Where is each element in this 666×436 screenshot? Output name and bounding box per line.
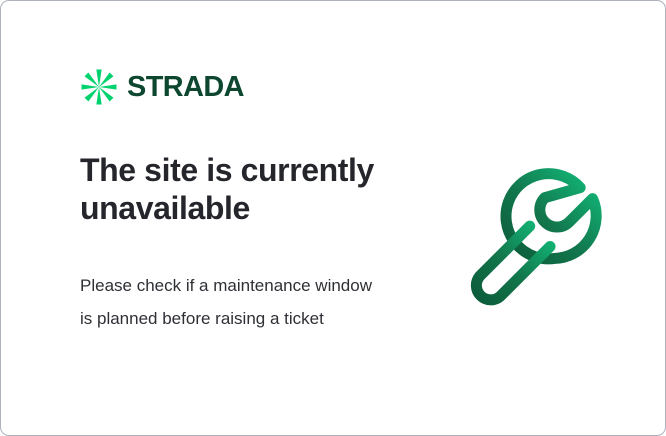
page-description: Please check if a maintenance window is … xyxy=(80,269,380,335)
wrench-icon xyxy=(453,149,618,317)
brand-logo: STRADA xyxy=(80,68,305,106)
brand-wordmark-text: STRADA xyxy=(127,72,245,102)
page-title: The site is currently unavailable xyxy=(80,151,410,227)
brand-wordmark: STRADA xyxy=(127,72,305,102)
strada-asterisk-icon xyxy=(80,68,118,106)
status-page-card: STRADA The site is currently unavailable… xyxy=(0,0,666,436)
